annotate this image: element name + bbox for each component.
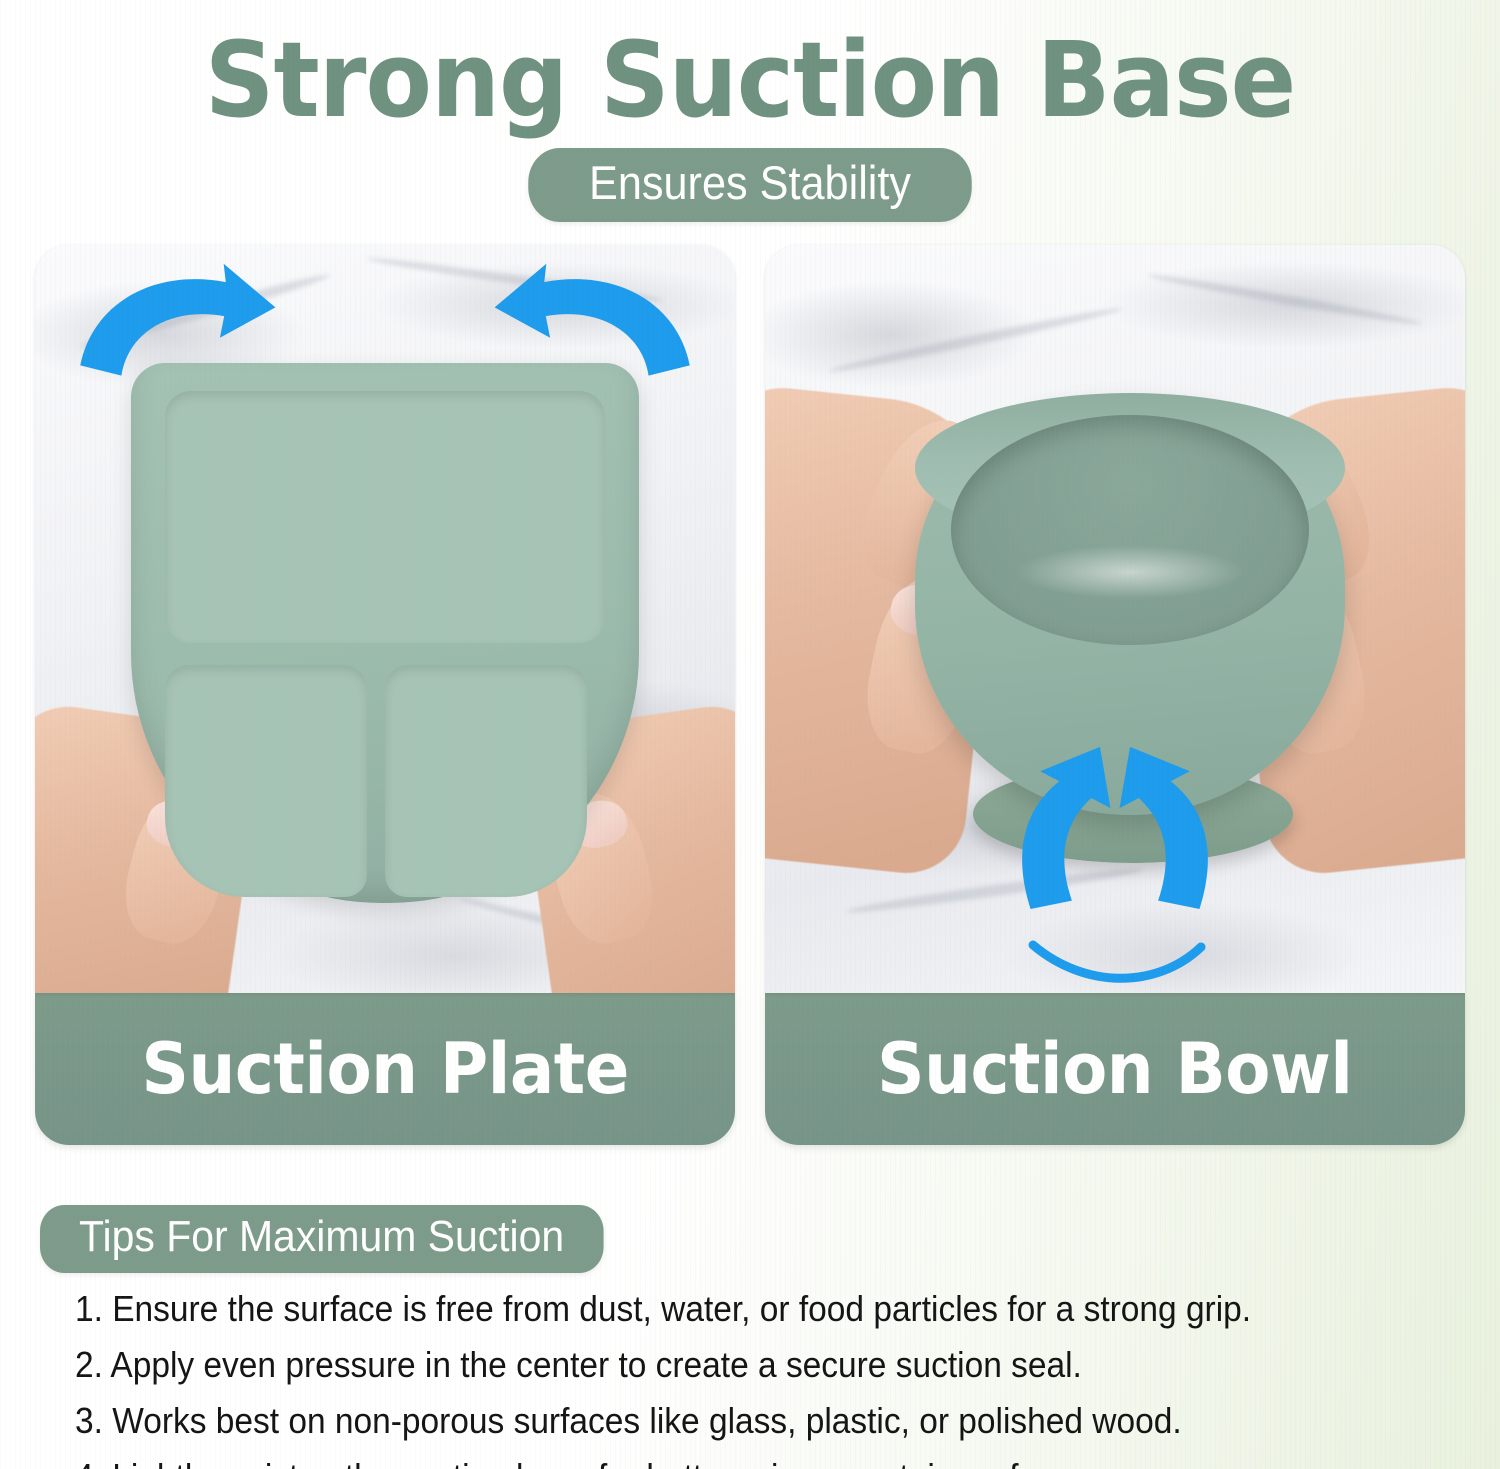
tips-heading-container: Tips For Maximum Suction bbox=[40, 1205, 646, 1273]
subtitle-container: Ensures Stability bbox=[0, 148, 1500, 222]
bowl-caption-label: Suction Bowl bbox=[877, 1030, 1352, 1108]
plate-photo bbox=[35, 245, 735, 993]
plate-suction-arrows bbox=[35, 245, 735, 993]
tip-item: 3. Works best on non-porous surfaces lik… bbox=[75, 1397, 1358, 1444]
bowl-suction-arrows bbox=[765, 245, 1465, 993]
panel-suction-bowl: Suction Bowl bbox=[765, 245, 1465, 1145]
tips-list: 1. Ensure the surface is free from dust,… bbox=[75, 1285, 1455, 1469]
tip-item: 4. Lightly moisten the suction base for … bbox=[75, 1453, 1358, 1469]
tip-item: 2. Apply even pressure in the center to … bbox=[75, 1341, 1358, 1388]
tip-item: 1. Ensure the surface is free from dust,… bbox=[75, 1285, 1358, 1332]
subtitle-badge: Ensures Stability bbox=[528, 148, 971, 222]
page-title: Strong Suction Base bbox=[53, 24, 1448, 136]
bowl-caption-bar: Suction Bowl bbox=[765, 993, 1465, 1145]
bowl-photo bbox=[765, 245, 1465, 993]
tips-heading-badge: Tips For Maximum Suction bbox=[40, 1205, 603, 1273]
infographic-page: Strong Suction Base Ensures Stability bbox=[0, 0, 1500, 1469]
plate-caption-label: Suction Plate bbox=[141, 1030, 628, 1108]
panel-suction-plate: Suction Plate bbox=[35, 245, 735, 1145]
plate-caption-bar: Suction Plate bbox=[35, 993, 735, 1145]
